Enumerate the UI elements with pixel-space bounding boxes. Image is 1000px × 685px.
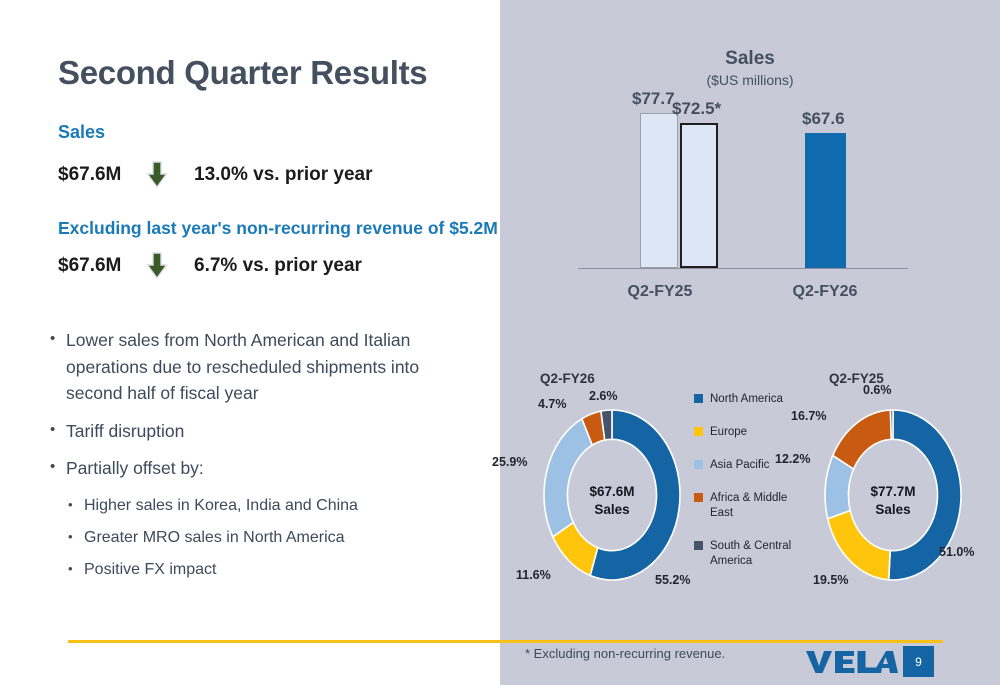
excluding-heading: Excluding last year's non-recurring reve…	[58, 218, 498, 239]
list-item: Tariff disruption	[48, 418, 468, 445]
bar-value-label: $77.7	[632, 89, 675, 109]
page-number-badge: 9	[903, 646, 934, 677]
bar-value-label: $72.5*	[672, 99, 721, 119]
donut-pct-label: 0.6%	[863, 383, 892, 397]
donut-chart-q2-fy25: Q2-FY25 $77.7M Sales 51.0% 19.5% 12.2% 1…	[781, 355, 1000, 605]
donut-slice	[544, 419, 592, 537]
legend-swatch-icon	[694, 427, 703, 436]
metric-value-sales: $67.6M	[58, 164, 140, 186]
list-item: Partially offset by:	[48, 455, 468, 482]
donut-center-caption: Sales	[562, 501, 662, 519]
donut-center-label: $77.7M Sales	[843, 483, 943, 519]
page-title: Second Quarter Results	[58, 54, 427, 92]
list-item: Lower sales from North American and Ital…	[48, 327, 468, 407]
donut-center-label: $67.6M Sales	[562, 483, 662, 519]
footnote-text: * Excluding non-recurring revenue.	[525, 646, 725, 661]
divider-rule	[68, 640, 943, 643]
donut-center-value: $77.7M	[843, 483, 943, 501]
bar-chart-title: Sales	[500, 48, 1000, 70]
donut-pct-label: 51.0%	[939, 545, 974, 559]
donut-center-value: $67.6M	[562, 483, 662, 501]
bar	[640, 113, 678, 268]
bar-category-label: Q2-FY26	[765, 283, 885, 301]
donut-slice	[828, 511, 891, 580]
metric-text-sales: 13.0% vs. prior year	[194, 164, 373, 186]
bar	[805, 133, 846, 268]
list-item: Higher sales in Korea, India and China	[48, 493, 468, 518]
donut-pct-label: 12.2%	[775, 452, 810, 466]
donut-pct-label: 16.7%	[791, 409, 826, 423]
list-item: Greater MRO sales in North America	[48, 525, 468, 550]
arrow-down-icon	[140, 161, 174, 189]
donut-title: Q2-FY26	[540, 371, 595, 386]
legend-label: Asia Pacific	[710, 458, 769, 473]
bullet-list: Lower sales from North American and Ital…	[48, 327, 468, 589]
legend-label: Europe	[710, 425, 747, 440]
bar-chart-axis-line	[578, 268, 908, 269]
donut-slice	[833, 410, 892, 469]
legend-swatch-icon	[694, 493, 703, 502]
donut-pct-label: 19.5%	[813, 573, 848, 587]
velan-logo	[806, 648, 898, 676]
bullet-sublist: Higher sales in Korea, India and China G…	[48, 493, 468, 582]
slide-canvas: Second Quarter Results Sales $67.6M 13.0…	[0, 0, 1000, 685]
list-item: Positive FX impact	[48, 557, 468, 582]
legend-label: North America	[710, 392, 783, 407]
arrow-down-icon	[140, 252, 174, 280]
metric-text-excluding: 6.7% vs. prior year	[194, 255, 362, 277]
bar-chart-subtitle: ($US millions)	[500, 72, 1000, 88]
donut-pct-label: 25.9%	[492, 455, 527, 469]
metric-value-excluding: $67.6M	[58, 255, 140, 277]
donut-slice	[890, 410, 893, 439]
legend-swatch-icon	[694, 394, 703, 403]
legend-swatch-icon	[694, 460, 703, 469]
legend-swatch-icon	[694, 541, 703, 550]
bar-category-label: Q2-FY25	[600, 283, 720, 301]
metric-row-sales: $67.6M 13.0% vs. prior year	[58, 160, 373, 190]
bar	[680, 123, 718, 268]
sales-bar-chart: Sales ($US millions) $77.7$72.5*$67.6 Q2…	[500, 0, 1000, 320]
bar-value-label: $67.6	[802, 109, 845, 129]
donut-center-caption: Sales	[843, 501, 943, 519]
sales-heading: Sales	[58, 122, 105, 143]
donut-pct-label: 55.2%	[655, 573, 690, 587]
metric-row-excluding: $67.6M 6.7% vs. prior year	[58, 251, 362, 281]
donut-pct-label: 2.6%	[589, 389, 618, 403]
donut-pct-label: 11.6%	[516, 568, 551, 582]
donut-pct-label: 4.7%	[538, 397, 567, 411]
